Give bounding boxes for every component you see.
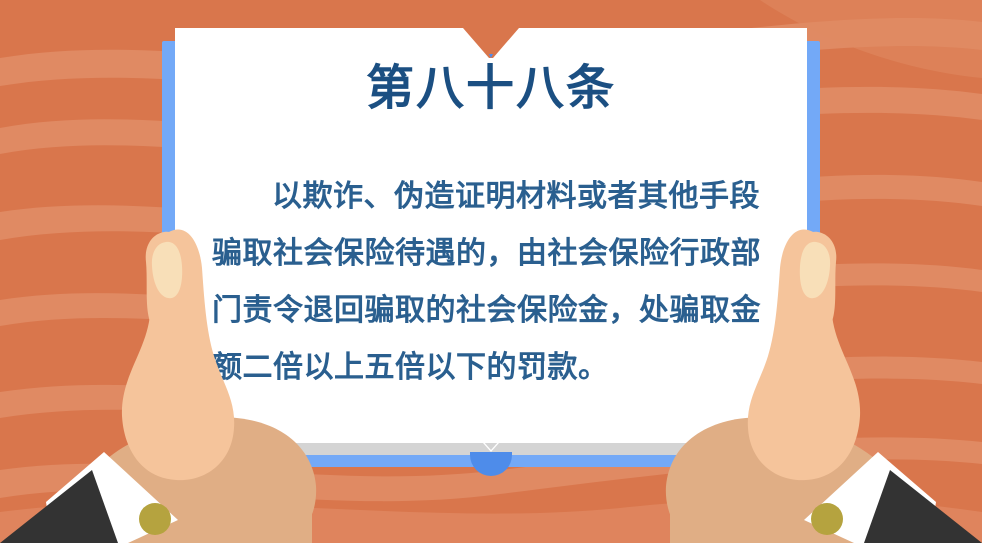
article-body: 以欺诈、伪造证明材料或者其他手段 骗取社会保险待遇的，由社会保险行政部 门责令退… — [212, 168, 760, 396]
article-line-4: 额二倍以上五倍以下的罚款。 — [212, 339, 760, 396]
article-line-1: 以欺诈、伪造证明材料或者其他手段 — [212, 168, 760, 225]
article-line-2: 骗取社会保险待遇的，由社会保险行政部 — [212, 225, 760, 282]
article-line-3: 门责令退回骗取的社会保险金，处骗取金 — [212, 282, 760, 339]
book-spine-tab — [470, 452, 512, 476]
book-spine-top-notch — [463, 28, 519, 58]
poster-canvas: 第八十八条 以欺诈、伪造证明材料或者其他手段 骗取社会保险待遇的，由社会保险行政… — [0, 0, 982, 543]
page-title: 第八十八条 — [175, 60, 807, 118]
